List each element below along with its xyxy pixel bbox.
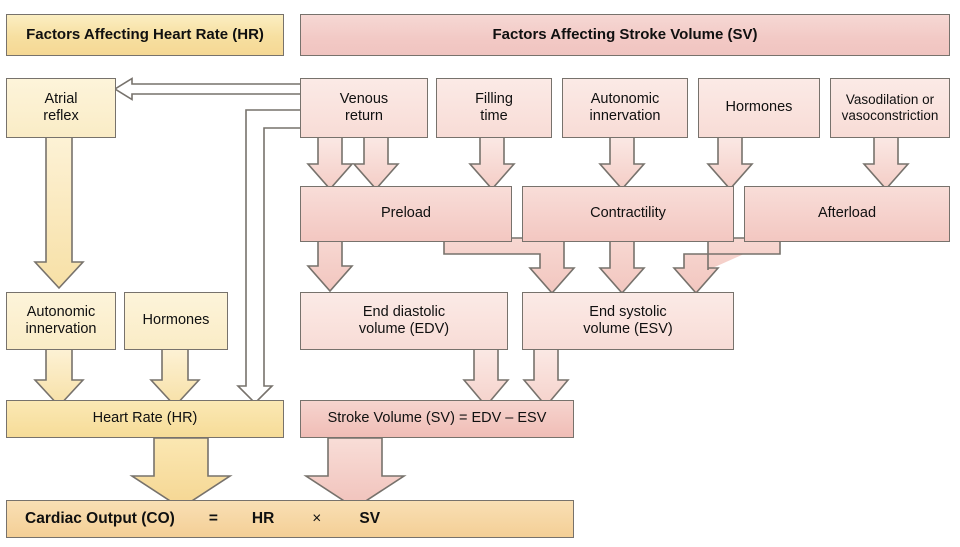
box-hormones-hr-label: Hormones [139, 312, 214, 329]
cardiac-output-times: × [274, 510, 321, 528]
heart-rate-header: Factors Affecting Heart Rate (HR) [6, 14, 284, 56]
box-autonomic-innervation-sv: Autonomic innervation [562, 78, 688, 138]
cardiac-output-formula: Cardiac Output (CO) = HR × SV [7, 510, 573, 528]
box-vasodilation-label: Vasodilation or vasoconstriction [838, 92, 943, 124]
box-filling-time: Filling time [436, 78, 552, 138]
box-afterload-label: Afterload [814, 205, 880, 222]
connector-venous-to-preload-a [306, 136, 358, 192]
box-venous-return: Venous return [300, 78, 428, 138]
box-preload: Preload [300, 186, 512, 242]
cardiac-output-equals: = [175, 510, 218, 528]
connector-filling-time-to-preload [468, 136, 520, 192]
connector-hormones-sv-to-contractility [706, 136, 758, 192]
connector-preload-to-edv [306, 238, 358, 294]
connector-afterload-to-esv [660, 238, 780, 296]
box-vasodilation: Vasodilation or vasoconstriction [830, 78, 950, 138]
box-esv: End systolic volume (ESV) [522, 292, 734, 350]
stroke-volume-header: Factors Affecting Stroke Volume (SV) [300, 14, 950, 56]
box-atrial-reflex-label: Atrial reflex [39, 91, 82, 125]
box-stroke-volume: Stroke Volume (SV) = EDV – ESV [300, 400, 574, 438]
connector-preload-to-esv [444, 238, 574, 296]
cardiac-output-flowchart: Factors Affecting Heart Rate (HR) Factor… [0, 0, 960, 547]
cardiac-output-hr: HR [218, 510, 274, 528]
connector-atrial-to-autonomic [32, 136, 88, 292]
connector-vasodilation-to-afterload [862, 136, 914, 192]
connector-venous-to-atrial [110, 78, 315, 104]
box-hormones-sv: Hormones [698, 78, 820, 138]
box-heart-rate: Heart Rate (HR) [6, 400, 284, 438]
connector-autonomic-sv-to-contractility [598, 136, 650, 192]
box-hormones-sv-label: Hormones [722, 99, 797, 116]
box-hormones-hr: Hormones [124, 292, 228, 350]
box-preload-label: Preload [377, 205, 435, 222]
box-esv-label: End systolic volume (ESV) [579, 304, 676, 338]
box-cardiac-output: Cardiac Output (CO) = HR × SV [6, 500, 574, 538]
box-heart-rate-label: Heart Rate (HR) [89, 410, 202, 427]
stroke-volume-header-label: Factors Affecting Stroke Volume (SV) [488, 26, 761, 44]
cardiac-output-sv: SV [321, 510, 380, 528]
box-filling-time-label: Filling time [471, 91, 517, 125]
box-autonomic-innervation-sv-label: Autonomic innervation [586, 91, 665, 125]
connector-contractility-to-esv [598, 238, 650, 296]
cardiac-output-label: Cardiac Output (CO) [25, 510, 175, 528]
box-contractility: Contractility [522, 186, 734, 242]
box-edv: End diastolic volume (EDV) [300, 292, 508, 350]
box-edv-label: End diastolic volume (EDV) [355, 304, 453, 338]
box-venous-return-label: Venous return [336, 91, 392, 125]
heart-rate-header-label: Factors Affecting Heart Rate (HR) [22, 26, 268, 44]
box-contractility-label: Contractility [586, 205, 670, 222]
box-autonomic-innervation-hr: Autonomic innervation [6, 292, 116, 350]
box-autonomic-innervation-hr-label: Autonomic innervation [22, 304, 101, 338]
box-atrial-reflex: Atrial reflex [6, 78, 116, 138]
box-afterload: Afterload [744, 186, 950, 242]
box-stroke-volume-label: Stroke Volume (SV) = EDV – ESV [324, 410, 551, 427]
connector-venous-to-preload-b [352, 136, 404, 192]
